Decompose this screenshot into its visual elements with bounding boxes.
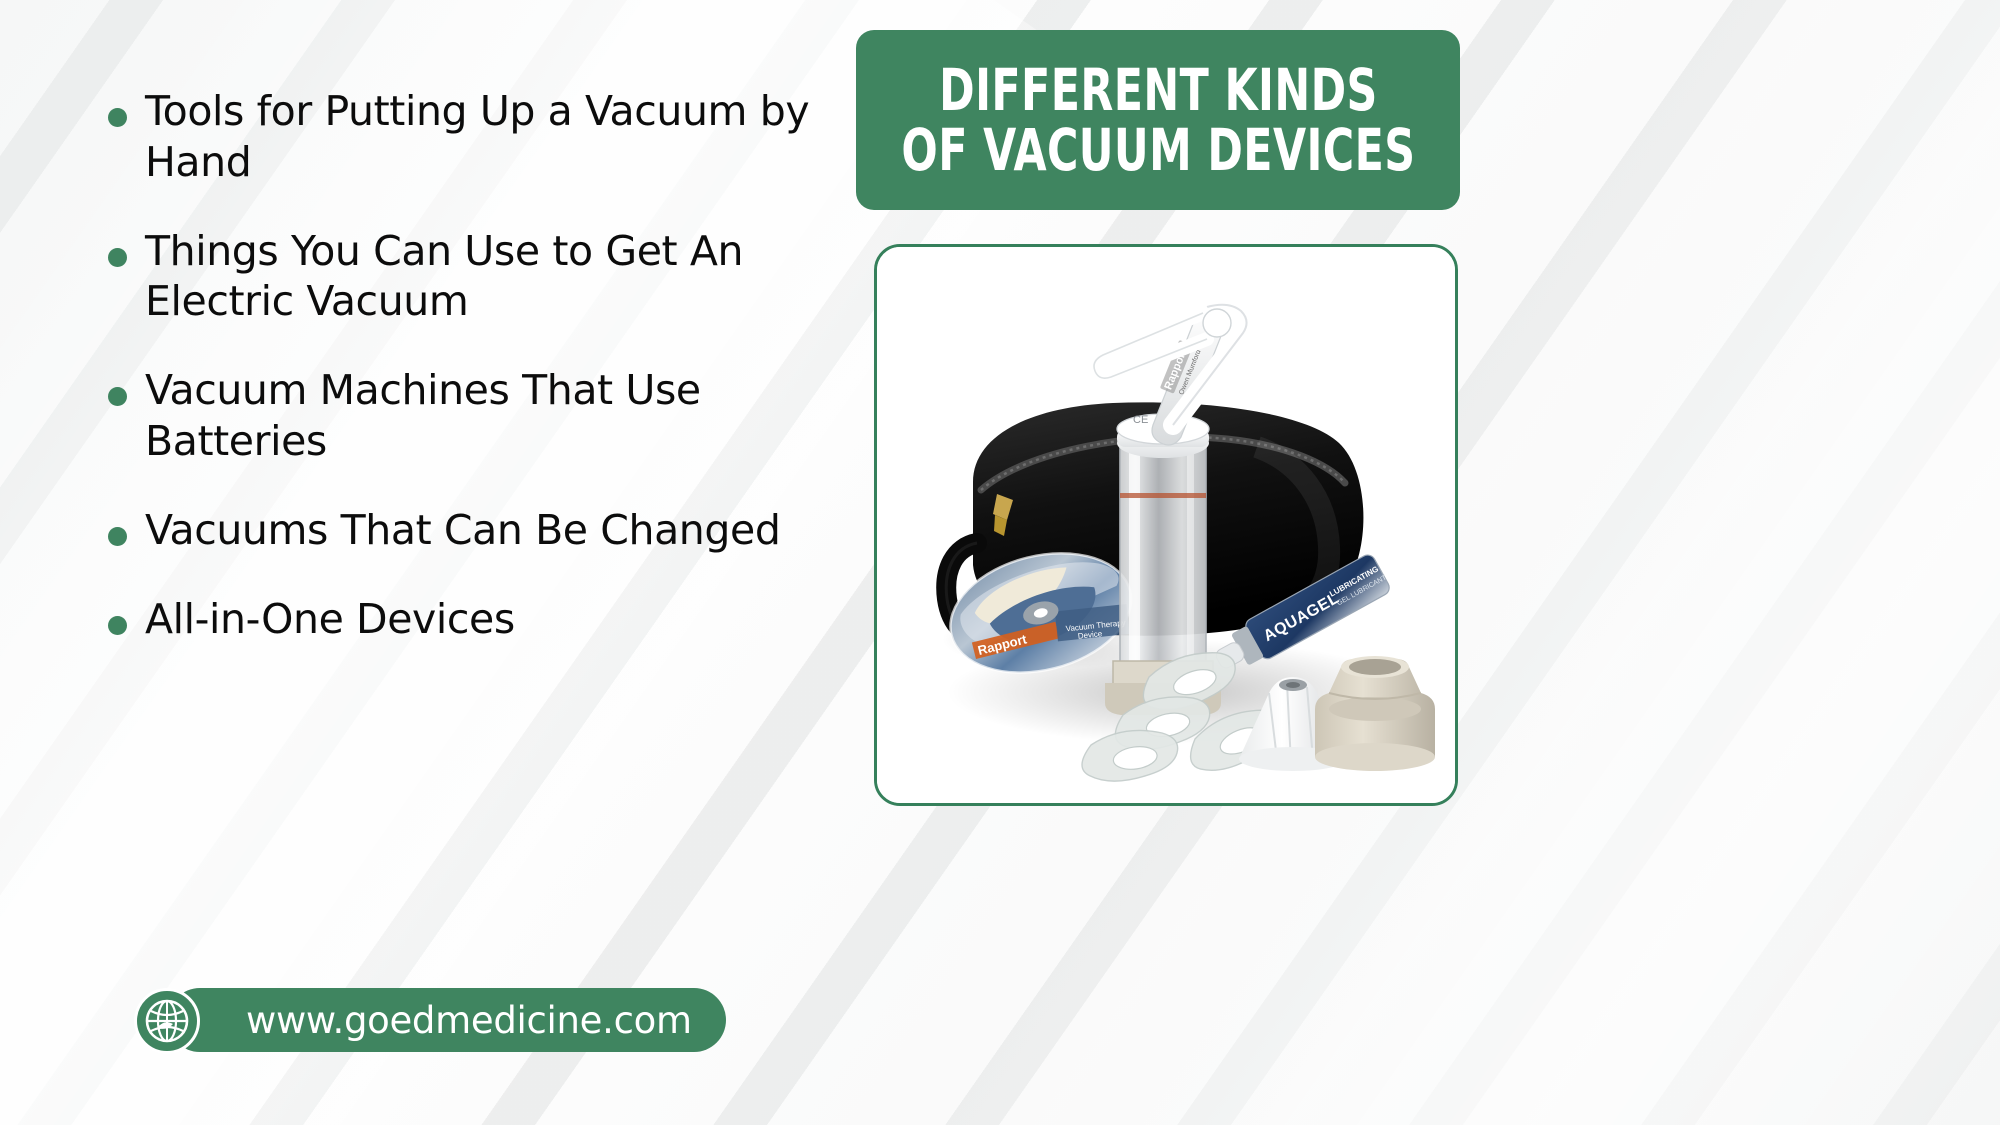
list-item: Things You Can Use to Get An Electric Va… [108,226,848,328]
bullet-dot-icon [108,387,127,406]
globe-icon-svg [144,998,190,1044]
globe-icon [134,988,200,1054]
list-item: Vacuums That Can Be Changed [108,505,848,556]
product-image-panel: Rapport Vacuum Therapy Device [874,244,1458,806]
infographic-page: Tools for Putting Up a Vacuum by Hand Th… [0,0,2000,1125]
bullet-item-label: All-in-One Devices [145,594,515,645]
bullet-dot-icon [108,248,127,267]
page-title-line-1: DIFFERENT KINDS [939,60,1378,120]
bullet-item-label: Tools for Putting Up a Vacuum by Hand [145,86,825,188]
bullet-dot-icon [108,616,127,635]
product-photo: Rapport Vacuum Therapy Device [877,247,1455,803]
page-title-line-2: OF VACUUM DEVICES [901,120,1415,180]
list-item: Tools for Putting Up a Vacuum by Hand [108,86,848,188]
list-item: Vacuum Machines That Use Batteries [108,365,848,467]
feature-bullet-list: Tools for Putting Up a Vacuum by Hand Th… [108,86,848,683]
website-url-label: www.goedmedicine.com [246,999,692,1042]
svg-text:CE: CE [1133,414,1148,426]
bullet-dot-icon [108,527,127,546]
bullet-dot-icon [108,108,127,127]
bullet-item-label: Things You Can Use to Get An Electric Va… [145,226,825,328]
bullet-item-label: Vacuums That Can Be Changed [145,505,780,556]
website-url-pill[interactable]: www.goedmedicine.com [168,988,726,1052]
list-item: All-in-One Devices [108,594,848,645]
title-banner: DIFFERENT KINDS OF VACUUM DEVICES [856,30,1460,210]
bullet-item-label: Vacuum Machines That Use Batteries [145,365,825,467]
